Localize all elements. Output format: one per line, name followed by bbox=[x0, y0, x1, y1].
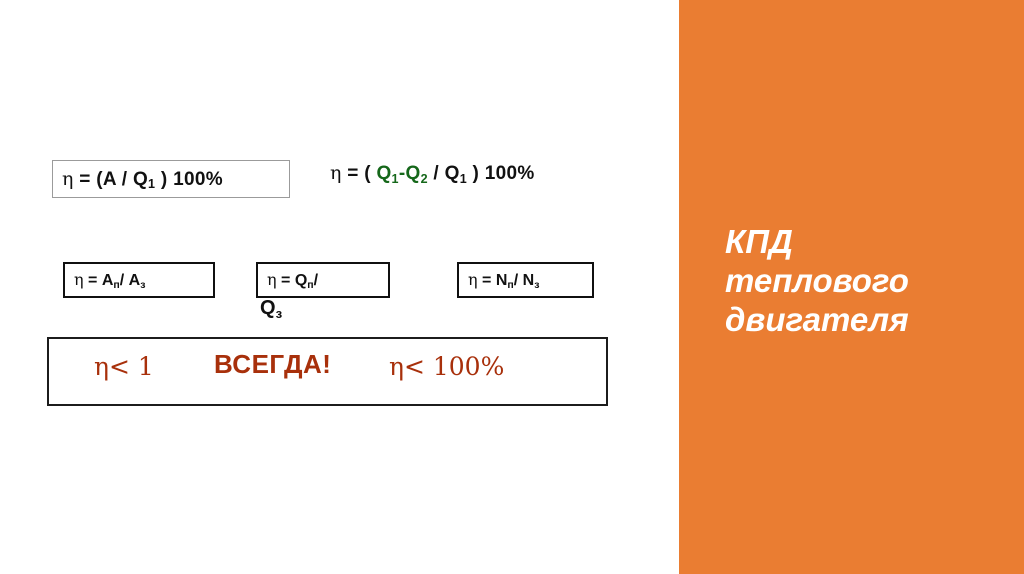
formula-numerator: N bbox=[496, 272, 508, 289]
formula-numerator: Q bbox=[295, 272, 307, 289]
formula-numerator: A bbox=[102, 272, 114, 289]
formula-box-work-ratio: η = Aп/ Aз bbox=[63, 262, 215, 298]
conclusion-eta-less-than-hundred: η< 100% bbox=[389, 352, 504, 381]
formula-denominator: A bbox=[129, 272, 141, 289]
formula-overflow-denominator: Q bbox=[260, 297, 276, 319]
formula-overflow-denominator-subscript: з bbox=[276, 306, 283, 321]
formula-box-power-ratio: η = Nп/ Nз bbox=[457, 262, 594, 298]
formula-q2-subscript: 2 bbox=[421, 172, 428, 186]
formula-power-ratio: η = Nп/ Nз bbox=[459, 270, 592, 290]
formula-numerator: A bbox=[103, 169, 116, 190]
formula-equals: = ( bbox=[342, 163, 377, 184]
eta-symbol: η bbox=[468, 270, 478, 289]
formula-tail: ) 100% bbox=[155, 169, 223, 190]
formula-equals: = ( bbox=[74, 169, 103, 190]
formula-q2: Q bbox=[405, 163, 420, 184]
formula-equals: = bbox=[277, 272, 295, 289]
formula-box-efficiency-work: η = (A / Q1 ) 100% bbox=[52, 160, 290, 198]
formula-heat-ratio-overflow: Qз bbox=[260, 297, 282, 320]
formula-equals: = bbox=[84, 272, 102, 289]
page-title-line-2: теплового bbox=[725, 261, 1015, 300]
page-title-line-3: двигателя bbox=[725, 300, 1015, 339]
formula-work-ratio: η = Aп/ Aз bbox=[65, 270, 213, 290]
eta-symbol: η bbox=[267, 270, 277, 289]
formula-numerator-subscript: п bbox=[113, 279, 119, 291]
formula-denominator-subscript: 1 bbox=[148, 177, 155, 191]
conclusion-row: η< 1 ВСЕГДА! η< 100% bbox=[49, 339, 606, 404]
formula-divider: / bbox=[314, 272, 318, 289]
conclusion-eta-less-than-one: η< 1 bbox=[94, 352, 154, 381]
formula-efficiency-heat: η = ( Q1-Q2 / Q1 ) 100% bbox=[330, 162, 535, 185]
formula-divider: / bbox=[514, 272, 523, 289]
formula-divider: / bbox=[428, 163, 445, 184]
formula-equals: = bbox=[478, 272, 496, 289]
eta-symbol: η bbox=[62, 168, 74, 190]
formula-heat-ratio: η = Qп/ bbox=[258, 270, 388, 290]
formula-denominator: Q bbox=[133, 169, 148, 190]
eta-symbol: η bbox=[330, 162, 342, 184]
formula-divider: / bbox=[116, 169, 133, 190]
page-title-line-1: КПД bbox=[725, 222, 1015, 261]
formula-denominator-subscript: з bbox=[534, 279, 539, 291]
formula-numerator-subscript: п bbox=[307, 279, 313, 291]
formula-q3-subscript: 1 bbox=[460, 172, 467, 186]
formula-denominator: N bbox=[523, 272, 535, 289]
formula-numerator-subscript: п bbox=[507, 279, 513, 291]
eta-symbol: η bbox=[74, 270, 84, 289]
slide-canvas: η = (A / Q1 ) 100% η = ( Q1-Q2 / Q1 ) 10… bbox=[0, 0, 1024, 574]
conclusion-always-label: ВСЕГДА! bbox=[214, 349, 331, 380]
formula-box-heat-ratio: η = Qп/ bbox=[256, 262, 390, 298]
formula-q3: Q bbox=[445, 163, 460, 184]
page-title: КПД теплового двигателя bbox=[725, 222, 1015, 339]
formula-q1-subscript: 1 bbox=[392, 172, 399, 186]
formula-efficiency-work: η = (A / Q1 ) 100% bbox=[53, 168, 289, 191]
conclusion-box: η< 1 ВСЕГДА! η< 100% bbox=[47, 337, 608, 406]
right-orange-panel: КПД теплового двигателя bbox=[679, 0, 1024, 574]
formula-divider: / bbox=[120, 272, 129, 289]
formula-q1: Q bbox=[376, 163, 391, 184]
formula-denominator-subscript: з bbox=[140, 279, 145, 291]
formula-tail: ) 100% bbox=[467, 163, 535, 184]
